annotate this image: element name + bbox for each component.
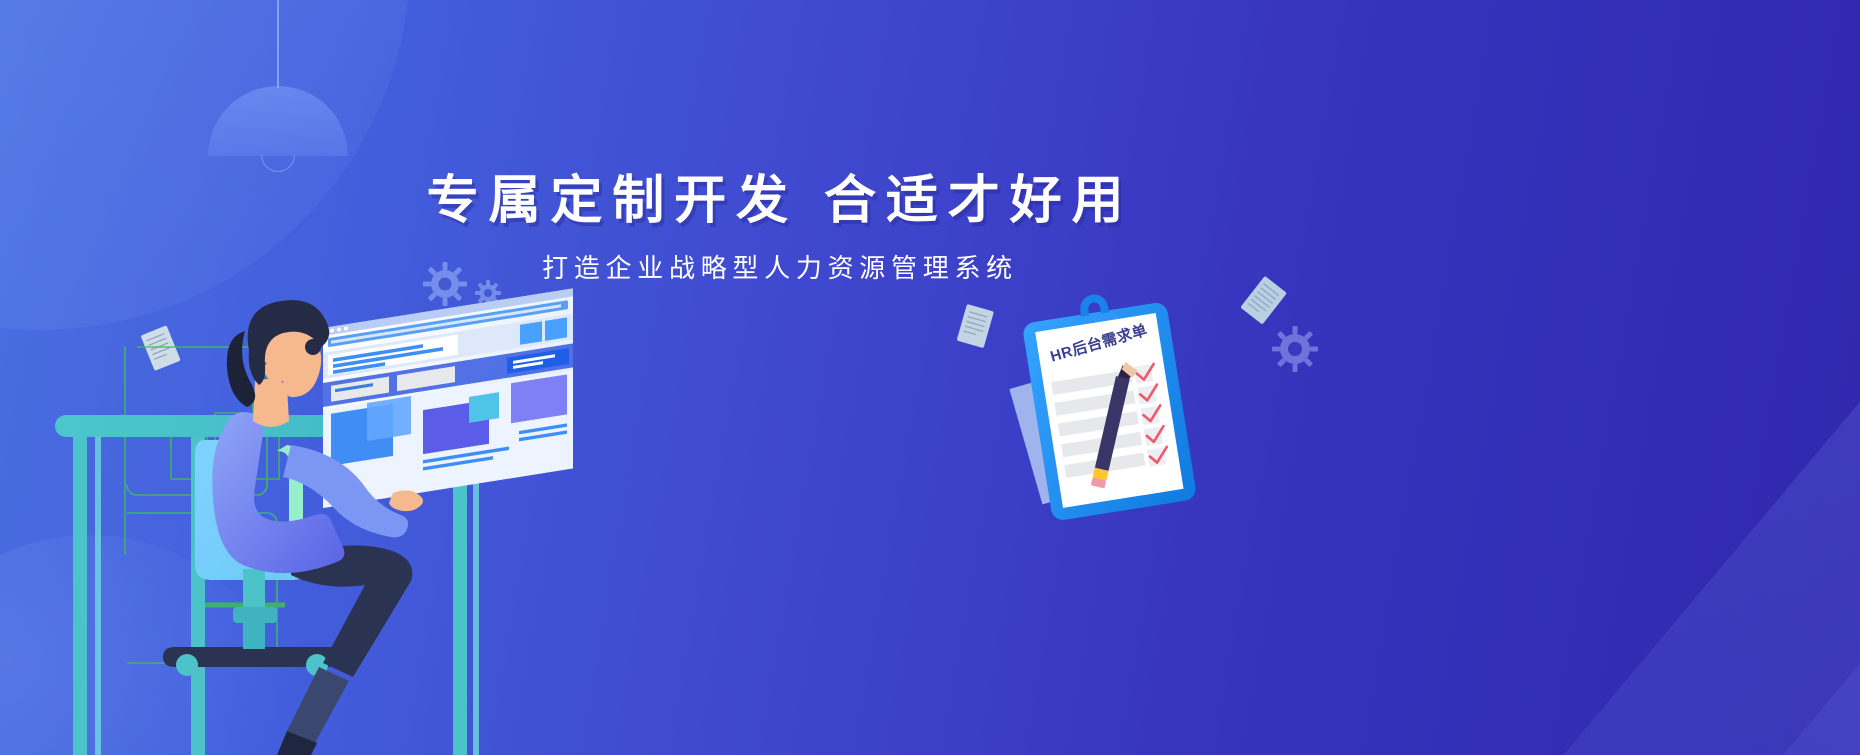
page-title: 专属定制开发合适才好用 <box>0 172 1560 230</box>
lamp-shade <box>208 86 348 156</box>
clipboard-illustration: HR后台需求单 <box>1000 275 1280 535</box>
headline-part-1: 专属定制开发 <box>427 172 798 230</box>
person-at-desk-illustration <box>55 255 575 755</box>
lamp-bulb <box>261 155 295 172</box>
chair-wheel-left <box>176 654 198 676</box>
content-tile-2 <box>367 396 411 441</box>
person-hand <box>389 490 423 511</box>
browser-window <box>323 262 573 508</box>
header-tile-2 <box>545 317 567 340</box>
diagonal-bar-2 <box>1638 254 1860 755</box>
person-shin <box>287 667 349 743</box>
hr-hero-banner: 专属定制开发合适才好用 打造企业战略型人力资源管理系统 <box>0 0 1860 755</box>
person-hair-bun <box>305 339 321 355</box>
banner-copy-block: 专属定制开发合适才好用 打造企业战略型人力资源管理系统 <box>0 172 1560 285</box>
person-neck <box>253 379 289 427</box>
content-tile-4 <box>469 392 499 423</box>
pendant-lamp <box>208 0 348 165</box>
chair-hub <box>233 607 277 623</box>
headline-part-2: 合适才好用 <box>824 172 1133 230</box>
lamp-cord <box>277 0 279 88</box>
page-subtitle: 打造企业战略型人力资源管理系统 <box>0 248 1560 285</box>
chair-stem <box>243 569 265 611</box>
header-tile-1 <box>520 321 542 344</box>
floating-note-mid-icon <box>953 303 997 356</box>
